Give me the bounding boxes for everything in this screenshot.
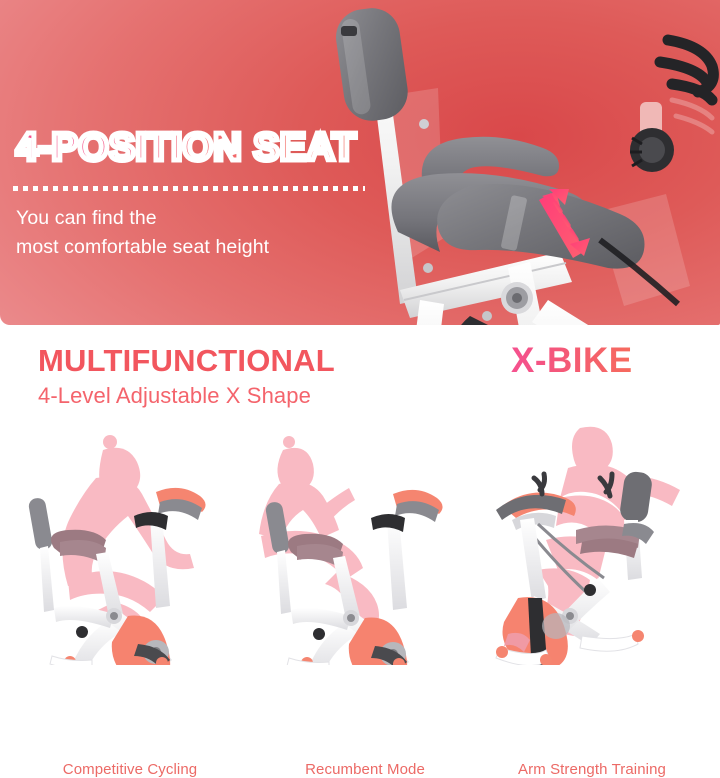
hero-subcopy-line1: You can find the: [16, 204, 269, 233]
caption-competitive-cycling: Competitive Cycling: [10, 761, 250, 778]
hero-headline: 4-POSITION SEAT: [16, 128, 357, 167]
seat-adjust-arrow: [539, 188, 608, 266]
section-subtitle: 4-Level Adjustable X Shape: [38, 383, 311, 409]
figure-recumbent-mode: [245, 420, 485, 665]
dotted-divider: [13, 186, 365, 191]
figure-row: Competitive Cycling Recumbent Mode Arm S…: [0, 420, 720, 665]
figure-arm-strength-training: [472, 420, 712, 665]
features-section: MULTIFUNCTIONAL 4-Level Adjustable X Sha…: [0, 325, 720, 720]
hero-panel: 4-POSITION SEAT You can find the most co…: [0, 0, 720, 325]
section-title: MULTIFUNCTIONAL: [38, 343, 335, 379]
caption-recumbent-mode: Recumbent Mode: [245, 761, 485, 778]
brand-name: X-BIKE: [511, 341, 633, 381]
hero-subcopy-line2: most comfortable seat height: [16, 233, 269, 262]
hero-subcopy: You can find the most comfortable seat h…: [16, 204, 269, 262]
figure-competitive-cycling: [10, 420, 250, 665]
caption-arm-strength-training: Arm Strength Training: [472, 761, 712, 778]
